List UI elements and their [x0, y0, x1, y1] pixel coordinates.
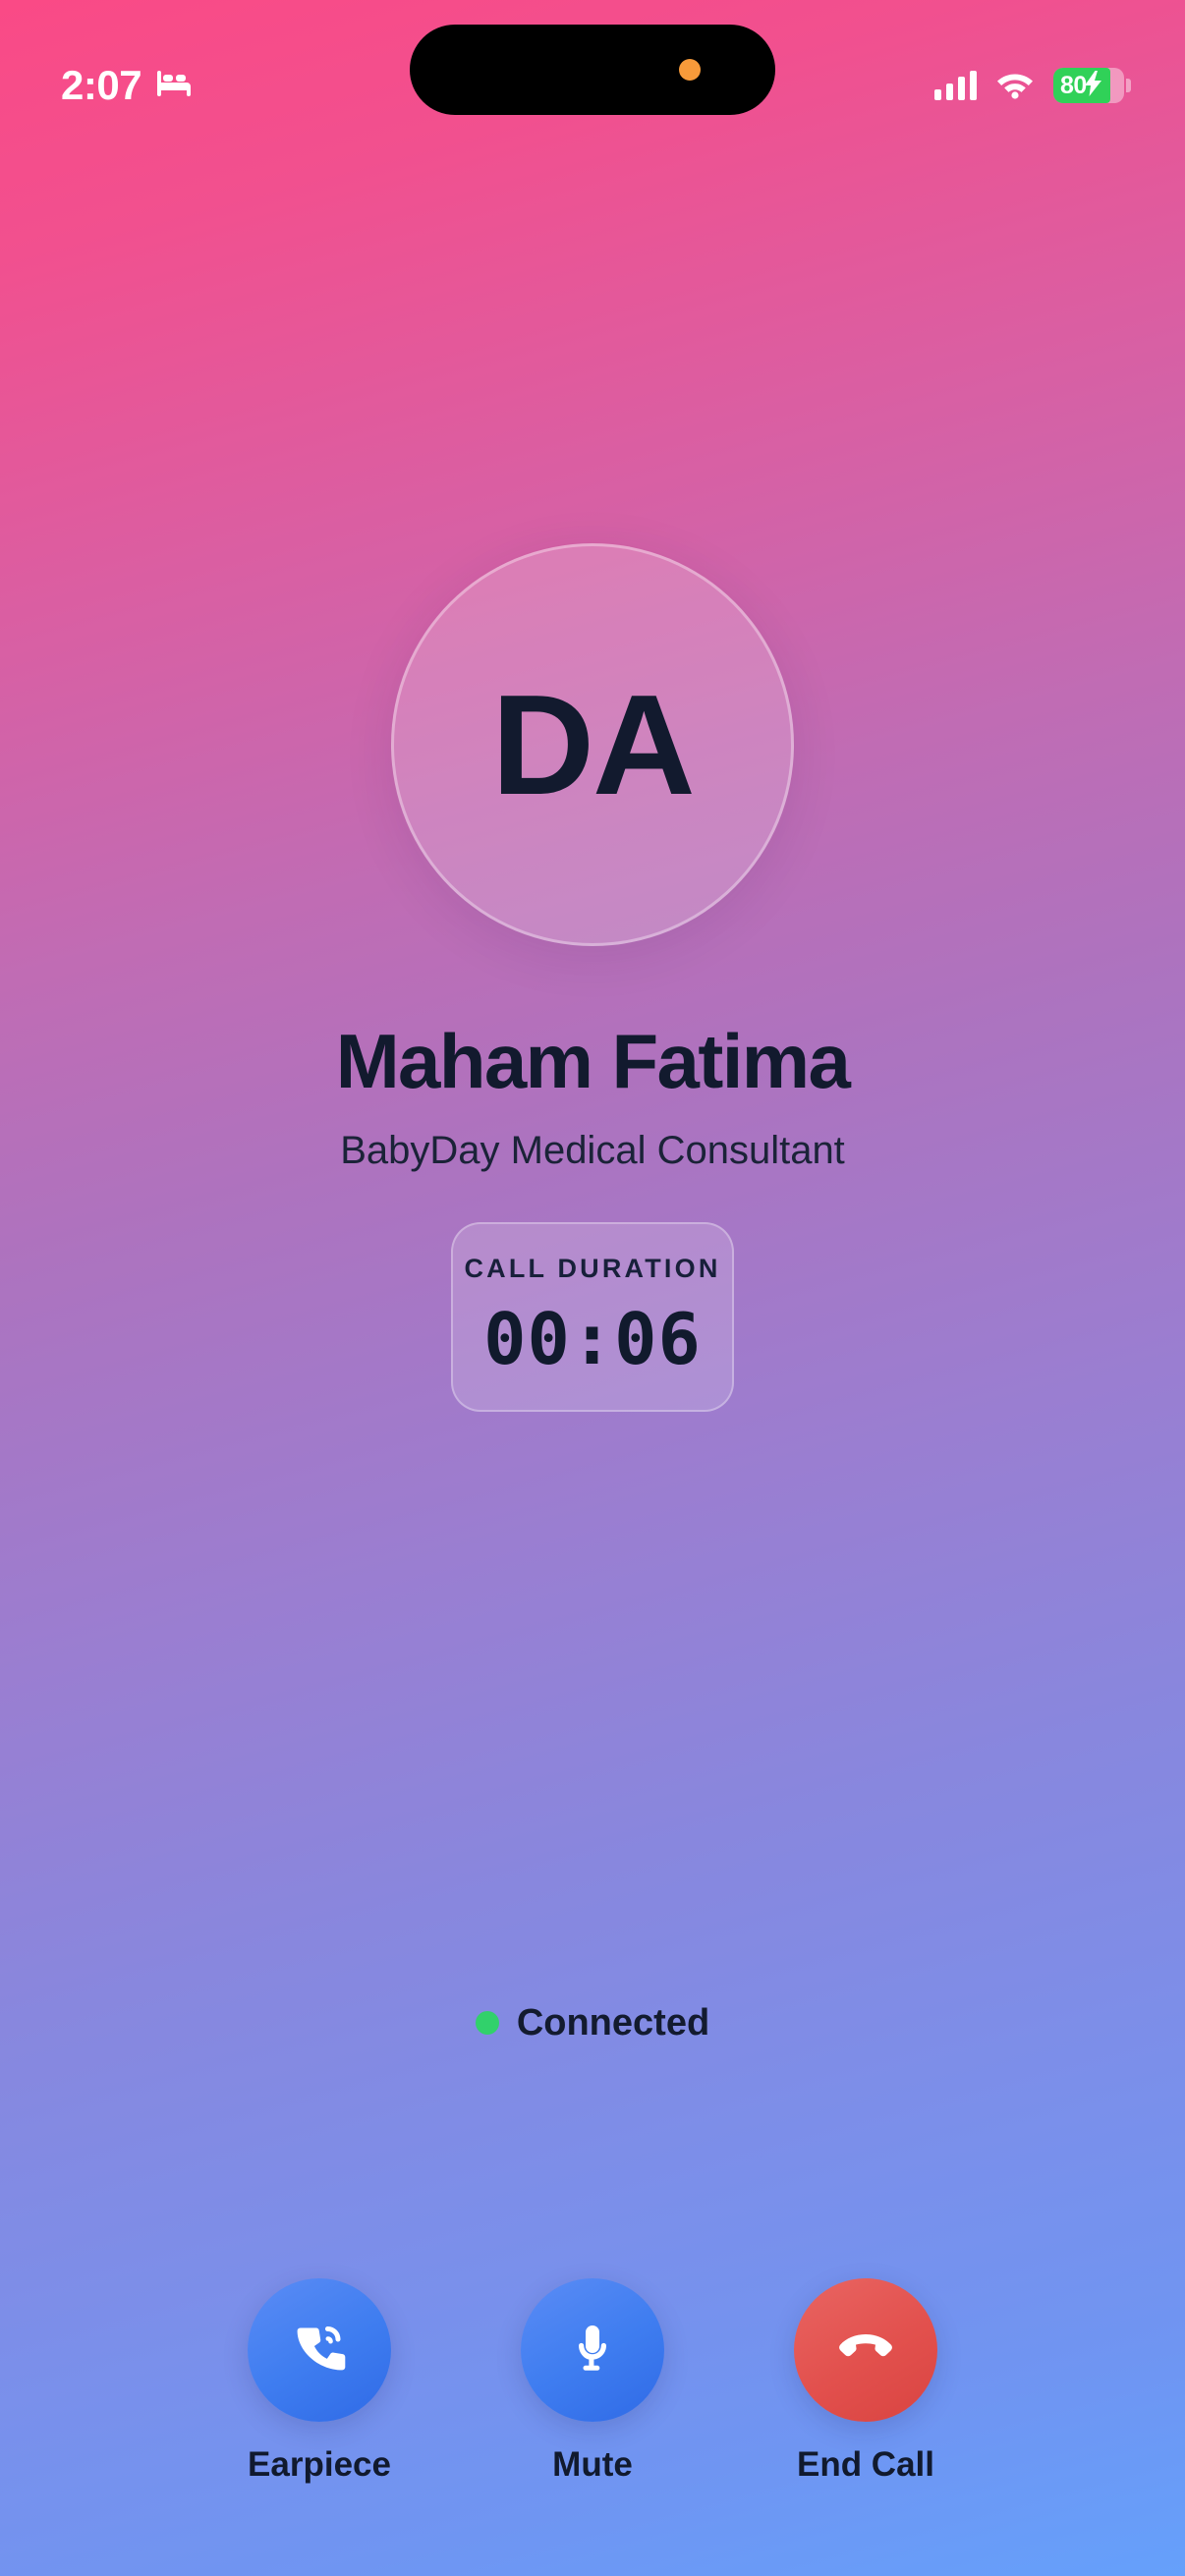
call-duration-label: CALL DURATION	[464, 1256, 720, 1282]
call-duration-value: 00:06	[483, 1304, 702, 1374]
cellular-signal-icon	[934, 71, 977, 100]
contact-role: BabyDay Medical Consultant	[340, 1131, 845, 1170]
status-bar-left: 2:07	[61, 65, 193, 106]
battery-indicator: 80	[1053, 68, 1124, 103]
avatar: DA	[391, 543, 794, 946]
bed-icon	[155, 69, 193, 103]
battery-nub	[1126, 79, 1131, 92]
status-bar-right: 80	[934, 68, 1124, 104]
wifi-icon	[994, 68, 1036, 104]
contact-name: Maham Fatima	[336, 1023, 850, 1099]
avatar-initials: DA	[491, 674, 693, 816]
microphone-active-dot-icon	[679, 59, 701, 81]
status-time: 2:07	[61, 65, 141, 106]
charging-bolt-icon	[1085, 71, 1101, 101]
call-screen: 2:07 80	[0, 0, 1185, 2576]
dynamic-island[interactable]	[410, 25, 775, 115]
battery-percent: 80	[1053, 74, 1087, 98]
call-content: DA Maham Fatima BabyDay Medical Consulta…	[0, 0, 1185, 2576]
call-duration-card: CALL DURATION 00:06	[451, 1222, 734, 1412]
